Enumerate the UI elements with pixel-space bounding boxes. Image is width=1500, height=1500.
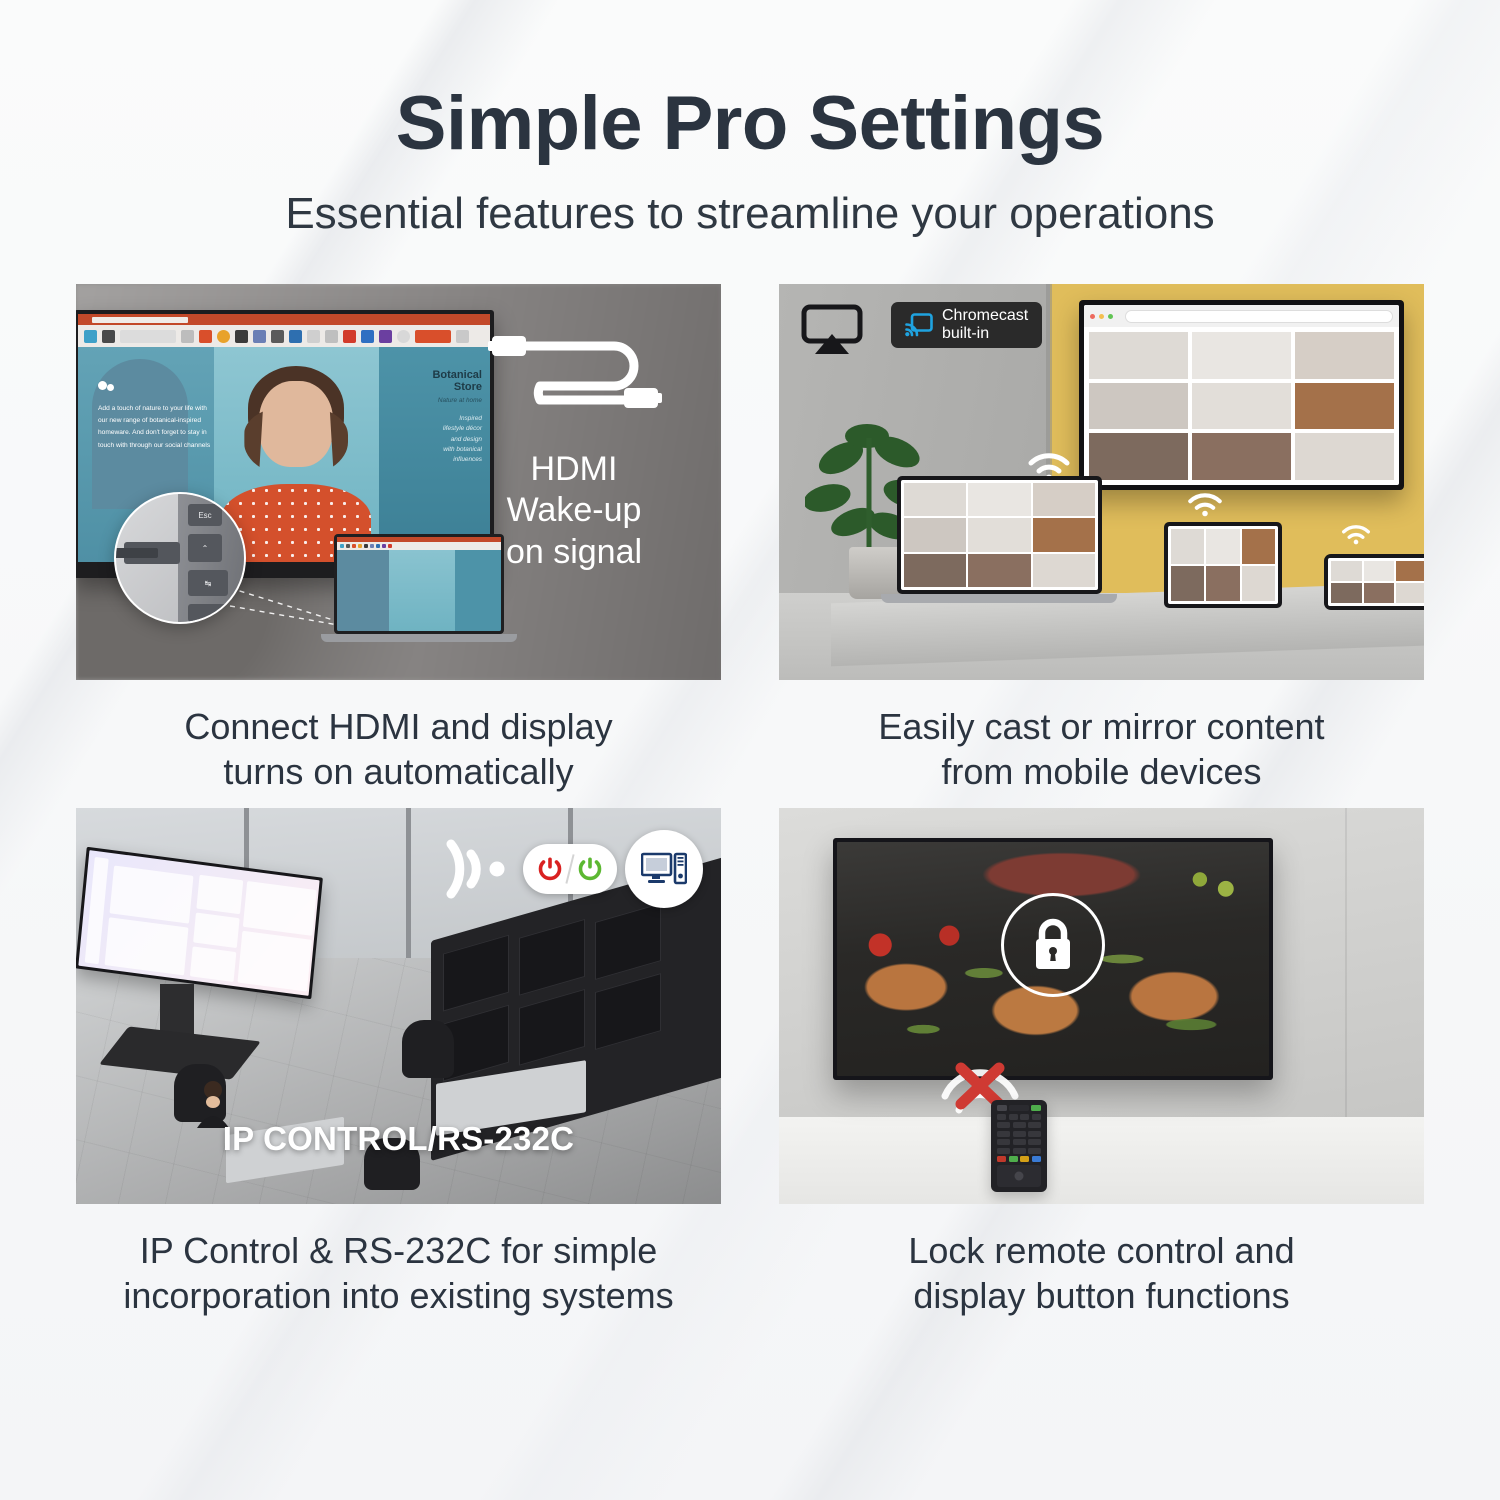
hdmi-port-magnifier: Esc ⌃ ↹ — [114, 492, 246, 624]
ip-control-icon-group — [441, 830, 703, 908]
phone-gallery — [1328, 558, 1424, 606]
chromecast-badge-label: Chromecast built-in — [942, 307, 1028, 344]
toolbar-icon-record — [343, 330, 356, 343]
laptop-lid — [334, 534, 504, 634]
remote-top-row — [997, 1105, 1041, 1111]
toolbar-icon-comment — [397, 330, 410, 343]
key-esc: Esc — [188, 504, 222, 526]
feature-image-hdmi-wake-up: Add a touch of nature to your life with … — [76, 284, 721, 680]
dashboard-bars — [237, 931, 311, 992]
gallery-tile — [1192, 433, 1291, 480]
window-close-dot[interactable] — [1090, 314, 1095, 319]
power-off-icon — [537, 856, 563, 882]
remote-number-row — [997, 1131, 1041, 1137]
feature-card-lock-controls: Lock remote control and display button f… — [779, 808, 1424, 1318]
toolbar-icon-diagram — [235, 330, 248, 343]
feature-caption-hdmi-wake-up: Connect HDMI and display turns on automa… — [184, 704, 612, 794]
analytics-dashboard — [78, 850, 319, 996]
remote-input-row — [997, 1114, 1041, 1120]
toolbar-icon-shape — [253, 330, 266, 343]
airplay-icon — [801, 304, 863, 356]
presentation-app-titlebar — [78, 314, 490, 325]
product-gallery-grid — [1084, 327, 1399, 485]
key-tab: ↹ — [188, 570, 228, 596]
gallery-tile — [1295, 383, 1394, 430]
gallery-tile — [1295, 332, 1394, 379]
chromecast-icon — [905, 313, 933, 337]
toolbar-icon-grid — [379, 330, 392, 343]
toolbar-icon-paste — [84, 330, 97, 343]
laptop-slide-left — [337, 537, 389, 631]
toolbar-icon-text-style — [120, 330, 176, 343]
desktop-computer-badge — [625, 830, 703, 908]
slide-body-copy: Add a touch of nature to your life with … — [98, 403, 218, 452]
remote-control[interactable] — [991, 1100, 1047, 1192]
gallery-tile — [1295, 433, 1394, 480]
laptop-device — [897, 476, 1102, 606]
gallery-tile — [1089, 383, 1188, 430]
dashboard-chart-area — [110, 865, 194, 923]
gallery-tile — [1089, 433, 1188, 480]
toolbar-icon-transition — [307, 330, 320, 343]
gallery-tile — [1089, 332, 1188, 379]
dashboard-bars — [243, 881, 317, 936]
window-maximize-dot[interactable] — [1108, 314, 1113, 319]
dashboard-kpi — [196, 875, 243, 915]
tablet-gallery — [1168, 526, 1278, 604]
laptop-base — [321, 634, 517, 642]
gallery-tile — [1192, 383, 1291, 430]
tablet-device — [1164, 522, 1282, 608]
key-blank — [188, 604, 228, 622]
toolbar-icon-clipboard — [102, 330, 115, 343]
display-screen — [76, 847, 323, 1000]
people-icon — [98, 381, 118, 395]
toolbar-icon-image — [289, 330, 302, 343]
wifi-icon — [1187, 492, 1223, 517]
infographic-page: Simple Pro Settings Essential features t… — [0, 0, 1500, 1500]
key-up: ⌃ — [188, 534, 222, 562]
laptop-base — [881, 594, 1117, 603]
remote-number-row — [997, 1139, 1041, 1145]
page-subtitle: Essential features to streamline your op… — [0, 192, 1500, 236]
phone-device — [1324, 554, 1424, 610]
feature-caption-cast-mirror: Easily cast or mirror content from mobil… — [878, 704, 1324, 794]
lock-icon — [1029, 918, 1077, 972]
food-content-image — [837, 842, 1269, 1076]
browser-window — [1084, 305, 1399, 485]
hdmi-cable-icon — [486, 326, 662, 418]
feature-image-cast-mirror: Chromecast built-in — [779, 284, 1424, 680]
dashboard-kpi — [193, 913, 240, 949]
signal-waves-icon — [441, 838, 515, 900]
laptop-gallery — [901, 480, 1098, 590]
window-minimize-dot[interactable] — [1099, 314, 1104, 319]
toolbar-icon-search — [361, 330, 374, 343]
wall-mounted-display — [1079, 300, 1404, 490]
feature-caption-ip-control: IP Control & RS-232C for simple incorpor… — [123, 1228, 673, 1318]
feature-image-ip-control: IP CONTROL/RS-232C — [76, 808, 721, 1204]
feature-caption-lock-controls: Lock remote control and display button f… — [908, 1228, 1294, 1318]
feature-card-cast-mirror: Chromecast built-in — [779, 284, 1424, 794]
gallery-tile — [1192, 332, 1291, 379]
pill-divider — [565, 854, 574, 884]
chromecast-built-in-badge: Chromecast built-in — [891, 302, 1042, 348]
toolbar-icon-pie — [217, 330, 230, 343]
dashboard-chart-line — [105, 917, 189, 975]
dashboard-donut — [190, 946, 237, 982]
badge-arc — [627, 832, 701, 906]
office-chair — [402, 1020, 454, 1078]
address-bar[interactable] — [1125, 310, 1393, 323]
ip-control-overlay-label: IP CONTROL/RS-232C — [76, 1120, 721, 1158]
feature-card-ip-control: IP CONTROL/RS-232C IP Control & RS-232C … — [76, 808, 721, 1318]
floor-stand-display — [80, 862, 348, 1062]
hdmi-plug — [114, 548, 158, 558]
feature-image-lock-controls — [779, 808, 1424, 1204]
toolbar-icon-align — [181, 330, 194, 343]
model-face — [259, 381, 333, 467]
browser-chrome — [1084, 305, 1399, 327]
remote-dpad[interactable] — [997, 1165, 1041, 1187]
page-title: Simple Pro Settings — [0, 86, 1500, 162]
toolbar-icon-animation — [325, 330, 338, 343]
laptop-app-toolbar — [337, 542, 501, 550]
counter-surface — [779, 1117, 1424, 1204]
toolbar-icon-effects — [271, 330, 284, 343]
power-toggle-pill[interactable] — [523, 844, 617, 894]
toolbar-icon-chart — [199, 330, 212, 343]
feature-card-hdmi-wake-up: Add a touch of nature to your life with … — [76, 284, 721, 794]
remote-color-row — [997, 1156, 1041, 1162]
wall-mounted-display — [833, 838, 1273, 1080]
lock-badge — [1001, 893, 1105, 997]
remote-number-row — [997, 1122, 1041, 1128]
power-on-icon — [577, 856, 603, 882]
feature-grid: Add a touch of nature to your life with … — [76, 284, 1424, 1318]
laptop-lid — [897, 476, 1102, 594]
hdmi-overlay-label: HDMI Wake-up on signal — [445, 449, 703, 573]
wifi-icon — [1341, 524, 1371, 545]
remote-number-row — [997, 1148, 1041, 1154]
page-header: Simple Pro Settings Essential features t… — [0, 0, 1500, 236]
presentation-app-toolbar — [78, 325, 490, 347]
